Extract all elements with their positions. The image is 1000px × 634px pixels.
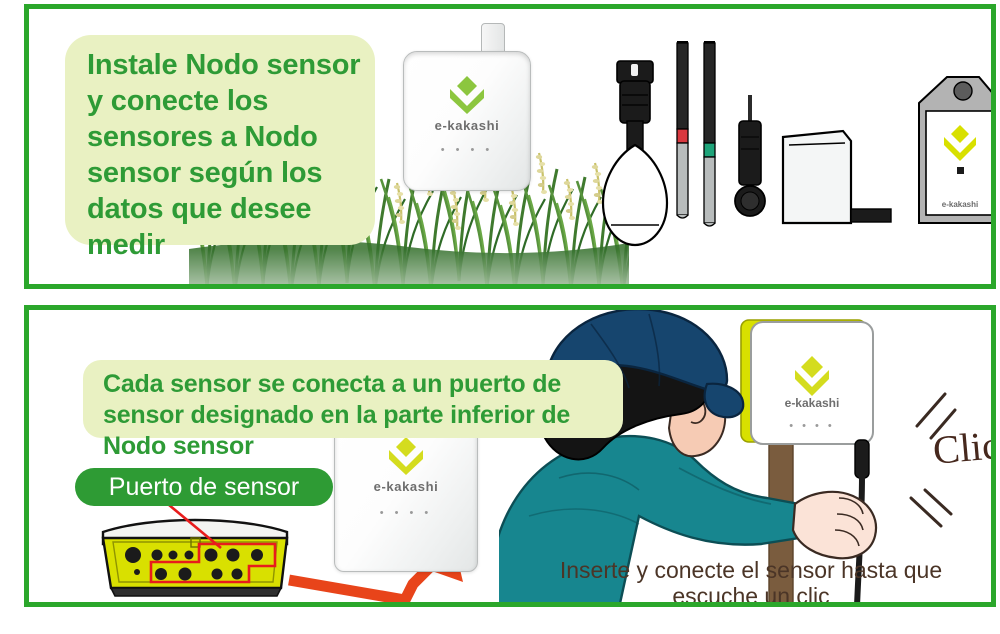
click-sound-effect: Clic — [931, 425, 996, 471]
panel-step-2: e-kakashi • • • • — [24, 305, 996, 607]
svg-text:e-kakashi: e-kakashi — [942, 200, 978, 209]
status-dots: • • • • — [335, 507, 477, 519]
instruction-text-step-2: Cada sensor se conecta a un puerto de se… — [103, 369, 613, 462]
status-dots: • • • • — [404, 144, 530, 156]
port-leader-line — [159, 498, 239, 558]
nodo-wordmark: e-kakashi — [404, 118, 530, 133]
sensor-lineup-artwork: e-kakashi — [589, 33, 996, 278]
ekakashi-logo-icon — [446, 76, 488, 114]
step-2-caption: Inserte y conecte el sensor hasta que es… — [516, 557, 986, 607]
ek-gateway-unit: e-kakashi — [919, 77, 996, 223]
solar-radiation-sensor — [783, 131, 891, 223]
instruction-bubble-step-1: Instale Nodo sensor y conecte los sensor… — [65, 35, 375, 245]
leaf-wetness-sensor — [603, 61, 667, 245]
instruction-bubble-step-2: Cada sensor se conecta a un puerto de se… — [83, 360, 623, 438]
panel-step-1: e-kakashi • • • • — [24, 4, 996, 289]
port-label-text: Puerto de sensor — [109, 475, 299, 500]
instruction-text-step-1: Instale Nodo sensor y conecte los sensor… — [87, 47, 369, 263]
soil-probe-red-band — [677, 41, 688, 218]
illustration-stage: e-kakashi • • • • — [0, 0, 1000, 634]
port-label-badge: Puerto de sensor — [75, 468, 333, 506]
nodo-wordmark: e-kakashi — [335, 479, 477, 494]
nodo-sensor-device-top: e-kakashi • • • • — [397, 23, 537, 193]
svg-text:• • • •: • • • • — [789, 420, 835, 432]
svg-text:e-kakashi: e-kakashi — [785, 396, 840, 410]
soil-probe-green-band — [704, 41, 715, 226]
soil-moisture-sensor — [735, 95, 765, 216]
